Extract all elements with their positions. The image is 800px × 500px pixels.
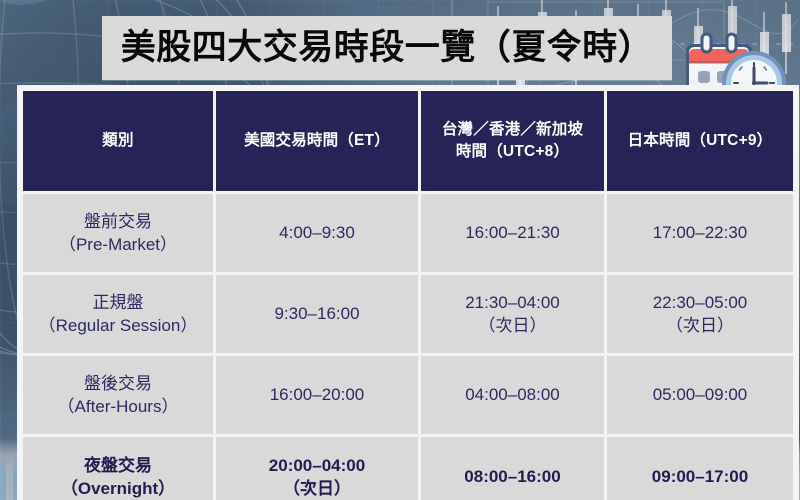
header-line: 時間（UTC+8） [427, 141, 598, 163]
cell-line: 20:00–04:00 [222, 454, 412, 477]
cell-asia-time: 16:00–21:30 [421, 194, 604, 272]
cell-us-time: 20:00–04:00 （次日） [216, 437, 418, 500]
cell-line: 22:30–05:00 [613, 291, 787, 314]
cell-line: 09:00–17:00 [613, 465, 787, 488]
cell-line: （次日） [222, 477, 412, 500]
column-header-asia-time: 台灣／香港／新加坡 時間（UTC+8） [421, 91, 604, 191]
cell-japan-time: 09:00–17:00 [607, 437, 793, 500]
cell-category: 夜盤交易 （Overnight） [23, 437, 213, 500]
column-header-japan-time: 日本時間（UTC+9） [607, 91, 793, 191]
cell-asia-time: 21:30–04:00 （次日） [421, 275, 604, 353]
column-header-us-time: 美國交易時間（ET） [216, 91, 418, 191]
cell-japan-time: 05:00–09:00 [607, 356, 793, 434]
title-banner: 美股四大交易時段一覽（夏令時） [102, 16, 672, 80]
table-row: 盤後交易 （After-Hours） 16:00–20:00 04:00–08:… [23, 356, 793, 434]
trading-sessions-table: 類別 美國交易時間（ET） 台灣／香港／新加坡 時間（UTC+8） 日本時間（U… [20, 88, 796, 500]
cell-line: 05:00–09:00 [613, 383, 787, 406]
header-line: 類別 [29, 130, 207, 152]
cell-line: （次日） [427, 314, 598, 337]
cell-line: 17:00–22:30 [613, 221, 787, 244]
cell-asia-time: 04:00–08:00 [421, 356, 604, 434]
cell-line: 21:30–04:00 [427, 291, 598, 314]
cell-us-time: 9:30–16:00 [216, 275, 418, 353]
table-header-row: 類別 美國交易時間（ET） 台灣／香港／新加坡 時間（UTC+8） 日本時間（U… [23, 91, 793, 191]
cell-asia-time: 08:00–16:00 [421, 437, 604, 500]
cell-line: 16:00–20:00 [222, 383, 412, 406]
cell-line: 04:00–08:00 [427, 383, 598, 406]
cell-category: 盤前交易 （Pre-Market） [23, 194, 213, 272]
cell-line: 盤後交易 [29, 372, 207, 395]
cell-line: 08:00–16:00 [427, 465, 598, 488]
cell-category: 盤後交易 （After-Hours） [23, 356, 213, 434]
header-line: 日本時間（UTC+9） [613, 130, 787, 152]
cell-line: （Overnight） [29, 477, 207, 500]
cell-line: （Pre-Market） [29, 233, 207, 256]
cell-line: （After-Hours） [29, 395, 207, 418]
table-row: 正規盤 （Regular Session） 9:30–16:00 21:30–0… [23, 275, 793, 353]
table-row: 盤前交易 （Pre-Market） 4:00–9:30 16:00–21:30 … [23, 194, 793, 272]
cell-us-time: 4:00–9:30 [216, 194, 418, 272]
cell-line: 正規盤 [29, 291, 207, 314]
cell-category: 正規盤 （Regular Session） [23, 275, 213, 353]
cell-line: （次日） [613, 314, 787, 337]
cell-us-time: 16:00–20:00 [216, 356, 418, 434]
slide-canvas: 美股四大交易時段一覽（夏令時） [0, 0, 800, 500]
cell-line: 9:30–16:00 [222, 302, 412, 325]
column-header-category: 類別 [23, 91, 213, 191]
header-line: 台灣／香港／新加坡 [427, 119, 598, 141]
header-line: 美國交易時間（ET） [222, 130, 412, 152]
cell-line: 夜盤交易 [29, 454, 207, 477]
table-row: 夜盤交易 （Overnight） 20:00–04:00 （次日） 08:00–… [23, 437, 793, 500]
cell-line: 16:00–21:30 [427, 221, 598, 244]
cell-line: 盤前交易 [29, 210, 207, 233]
cell-line: 4:00–9:30 [222, 221, 412, 244]
page-title: 美股四大交易時段一覽（夏令時） [121, 31, 654, 66]
cell-line: （Regular Session） [29, 314, 207, 337]
cell-japan-time: 17:00–22:30 [607, 194, 793, 272]
cell-japan-time: 22:30–05:00 （次日） [607, 275, 793, 353]
